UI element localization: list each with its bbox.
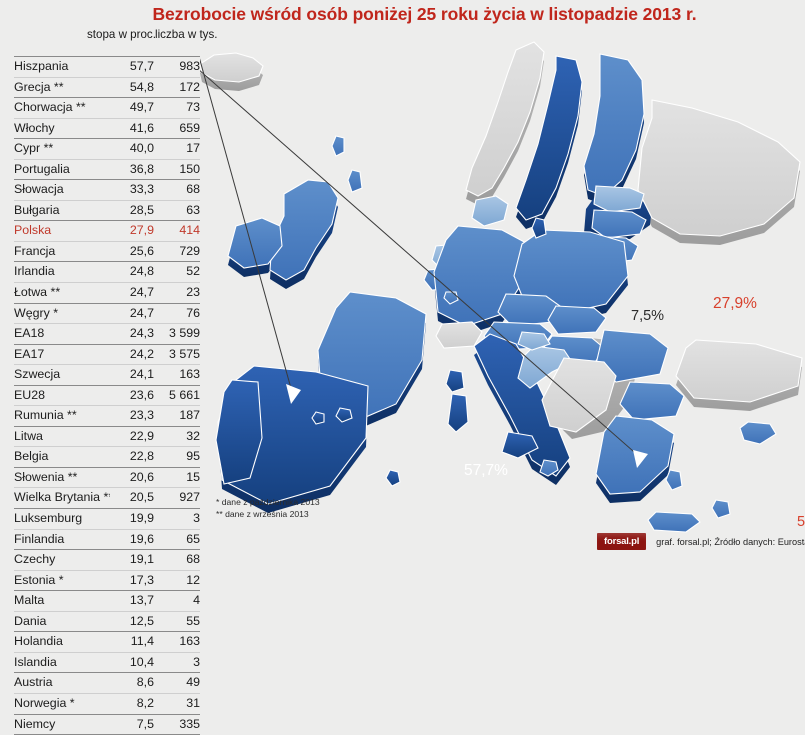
cell-count: 76 xyxy=(154,303,200,324)
cell-count: 3 575 xyxy=(154,344,200,365)
europe-map: 7,5% 27,9% 57,7% 54,8% xyxy=(200,40,805,540)
table-row: Węgry *24,776 xyxy=(14,303,200,324)
cell-name: Malta xyxy=(14,591,110,612)
cell-count: 95 xyxy=(154,447,200,468)
cell-rate: 20,5 xyxy=(110,488,154,509)
cell-count: 163 xyxy=(154,365,200,386)
table-row: Chorwacja **49,773 xyxy=(14,98,200,119)
table-row: Islandia10,43 xyxy=(14,652,200,673)
cell-rate: 24,8 xyxy=(110,262,154,283)
island-hebrides xyxy=(348,170,362,192)
cell-count: 17 xyxy=(154,139,200,160)
cell-name: Czechy xyxy=(14,550,110,571)
table-row: Słowacja33,368 xyxy=(14,180,200,201)
cell-rate: 12,5 xyxy=(110,611,154,632)
table-row: Włochy41,6659 xyxy=(14,118,200,139)
cell-count: 3 599 xyxy=(154,324,200,345)
cell-name: Bułgaria xyxy=(14,200,110,221)
cell-rate: 8,6 xyxy=(110,673,154,694)
table-row: Niemcy7,5335 xyxy=(14,714,200,735)
cell-rate: 54,8 xyxy=(110,77,154,98)
table-row: Francja25,6729 xyxy=(14,241,200,262)
column-header-rate: stopa w proc. xyxy=(87,28,161,42)
cell-count: 5 661 xyxy=(154,385,200,406)
table-row: Łotwa **24,723 xyxy=(14,283,200,304)
cell-count: 68 xyxy=(154,180,200,201)
table-header: stopa w proc. liczba w tys. xyxy=(14,28,200,42)
cell-rate: 11,4 xyxy=(110,632,154,653)
table-row: EA1824,33 599 xyxy=(14,324,200,345)
cell-rate: 20,6 xyxy=(110,467,154,488)
cell-rate: 40,0 xyxy=(110,139,154,160)
cell-rate: 25,6 xyxy=(110,241,154,262)
cell-count: 3 xyxy=(154,652,200,673)
cell-name: Luksemburg xyxy=(14,509,110,530)
map-label-poland: 27,9% xyxy=(713,295,757,313)
table-row: Polska27,9414 xyxy=(14,221,200,242)
table-row: Estonia *17,312 xyxy=(14,570,200,591)
cell-count: 63 xyxy=(154,200,200,221)
cell-count: 3 xyxy=(154,509,200,530)
table-row: Irlandia24,852 xyxy=(14,262,200,283)
table-row: Cypr **40,017 xyxy=(14,139,200,160)
cell-name: Polska xyxy=(14,221,110,242)
country-estonia xyxy=(594,186,644,212)
table-body: Hiszpania57,7983Grecja **54,8172Chorwacj… xyxy=(14,57,200,735)
cell-rate: 23,3 xyxy=(110,406,154,427)
island-corsica xyxy=(446,370,464,392)
cell-name: Węgry * xyxy=(14,303,110,324)
cell-count: 163 xyxy=(154,632,200,653)
cell-rate: 24,3 xyxy=(110,324,154,345)
table-row: Finlandia19,665 xyxy=(14,529,200,550)
cell-rate: 24,2 xyxy=(110,344,154,365)
cell-rate: 24,7 xyxy=(110,283,154,304)
cell-count: 55 xyxy=(154,611,200,632)
footnote-one: * dane z października 2013 xyxy=(216,497,320,509)
table-row: Rumunia **23,3187 xyxy=(14,406,200,427)
cell-rate: 36,8 xyxy=(110,159,154,180)
cell-name: EU28 xyxy=(14,385,110,406)
cell-count: 32 xyxy=(154,426,200,447)
island-shetland xyxy=(332,136,344,156)
island-misc-2 xyxy=(386,470,400,486)
cell-name: EA17 xyxy=(14,344,110,365)
table-row: Portugalia36,8150 xyxy=(14,159,200,180)
map-label-greece: 54,8% xyxy=(797,514,805,530)
cell-rate: 13,7 xyxy=(110,591,154,612)
cell-name: Islandia xyxy=(14,652,110,673)
cell-name: Łotwa ** xyxy=(14,283,110,304)
table-row: Litwa22,932 xyxy=(14,426,200,447)
table-row: EU2823,65 661 xyxy=(14,385,200,406)
cell-name: Estonia * xyxy=(14,570,110,591)
cell-count: 52 xyxy=(154,262,200,283)
data-table: stopa w proc. liczba w tys. Hiszpania57,… xyxy=(14,28,200,735)
page-title: Bezrobocie wśród osób poniżej 25 roku ży… xyxy=(0,4,805,25)
table-row: Luksemburg19,93 xyxy=(14,509,200,530)
cell-name: Chorwacja ** xyxy=(14,98,110,119)
cell-name: Szwecja xyxy=(14,365,110,386)
footnote-two: ** dane z września 2013 xyxy=(216,509,320,521)
cell-name: Słowacja xyxy=(14,180,110,201)
cell-name: Dania xyxy=(14,611,110,632)
cell-rate: 49,7 xyxy=(110,98,154,119)
country-bulgaria xyxy=(620,382,684,420)
cell-name: Finlandia xyxy=(14,529,110,550)
cell-rate: 24,1 xyxy=(110,365,154,386)
island-misc-4 xyxy=(712,500,730,518)
country-cyprus xyxy=(740,422,776,444)
forsal-logo[interactable]: forsal.pl xyxy=(597,533,646,550)
cell-count: 68 xyxy=(154,550,200,571)
page-title-text: Bezrobocie wśród osób poniżej 25 roku ży… xyxy=(153,4,697,25)
cell-rate: 19,9 xyxy=(110,509,154,530)
cell-count: 659 xyxy=(154,118,200,139)
cell-name: Włochy xyxy=(14,118,110,139)
cell-rate: 8,2 xyxy=(110,693,154,714)
cell-name: Cypr ** xyxy=(14,139,110,160)
country-finland xyxy=(584,54,644,196)
footnotes: * dane z października 2013 ** dane z wrz… xyxy=(216,497,320,520)
cell-count: 49 xyxy=(154,673,200,694)
map-label-germany: 7,5% xyxy=(631,308,664,324)
map-label-spain: 57,7% xyxy=(464,462,508,480)
cell-name: Norwegia * xyxy=(14,693,110,714)
cell-count: 927 xyxy=(154,488,200,509)
cell-name: Rumunia ** xyxy=(14,406,110,427)
table-row: Grecja **54,8172 xyxy=(14,77,200,98)
cell-count: 23 xyxy=(154,283,200,304)
table-row: Czechy19,168 xyxy=(14,550,200,571)
cell-count: 414 xyxy=(154,221,200,242)
table-row: Dania12,555 xyxy=(14,611,200,632)
cell-rate: 22,9 xyxy=(110,426,154,447)
table-row: Belgia22,895 xyxy=(14,447,200,468)
cell-rate: 22,8 xyxy=(110,447,154,468)
country-denmark xyxy=(472,196,508,226)
cell-rate: 57,7 xyxy=(110,57,154,78)
country-table: Hiszpania57,7983Grecja **54,8172Chorwacj… xyxy=(14,56,200,735)
table-row: Bułgaria28,563 xyxy=(14,200,200,221)
cell-name: Belgia xyxy=(14,447,110,468)
island-misc-3 xyxy=(666,470,682,490)
island-crete xyxy=(648,512,700,532)
table-row: Holandia11,4163 xyxy=(14,632,200,653)
cell-name: Niemcy xyxy=(14,714,110,735)
cell-rate: 7,5 xyxy=(110,714,154,735)
credit-bar: forsal.pl graf. forsal.pl; Źródło danych… xyxy=(597,533,805,550)
cell-rate: 19,1 xyxy=(110,550,154,571)
cell-count: 15 xyxy=(154,467,200,488)
cell-name: Austria xyxy=(14,673,110,694)
table-row: Szwecja24,1163 xyxy=(14,365,200,386)
table-row: Słowenia **20,615 xyxy=(14,467,200,488)
cell-rate: 24,7 xyxy=(110,303,154,324)
cell-name: Portugalia xyxy=(14,159,110,180)
table-row: Malta13,74 xyxy=(14,591,200,612)
table-row: Wielka Brytania **20,5927 xyxy=(14,488,200,509)
cell-rate: 41,6 xyxy=(110,118,154,139)
cell-rate: 23,6 xyxy=(110,385,154,406)
cell-rate: 10,4 xyxy=(110,652,154,673)
country-switzerland xyxy=(436,322,482,348)
cell-rate: 27,9 xyxy=(110,221,154,242)
infographic-root: Bezrobocie wśród osób poniżej 25 roku ży… xyxy=(0,0,805,589)
credit-text: graf. forsal.pl; Źródło danych: Eurostat xyxy=(656,537,805,547)
cell-count: 729 xyxy=(154,241,200,262)
cell-name: Wielka Brytania ** xyxy=(14,488,110,509)
cell-count: 73 xyxy=(154,98,200,119)
cell-count: 172 xyxy=(154,77,200,98)
cell-name: Irlandia xyxy=(14,262,110,283)
cell-rate: 33,3 xyxy=(110,180,154,201)
table-row: EA1724,23 575 xyxy=(14,344,200,365)
cell-name: Francja xyxy=(14,241,110,262)
cell-name: Słowenia ** xyxy=(14,467,110,488)
cell-name: EA18 xyxy=(14,324,110,345)
cell-count: 983 xyxy=(154,57,200,78)
island-sardinia xyxy=(448,394,468,432)
country-slovakia xyxy=(548,306,606,334)
cell-count: 150 xyxy=(154,159,200,180)
cell-name: Grecja ** xyxy=(14,77,110,98)
table-row: Hiszpania57,7983 xyxy=(14,57,200,78)
cell-count: 65 xyxy=(154,529,200,550)
cell-count: 187 xyxy=(154,406,200,427)
cell-name: Hiszpania xyxy=(14,57,110,78)
map-countries xyxy=(200,42,802,532)
cell-count: 4 xyxy=(154,591,200,612)
table-row: Norwegia *8,231 xyxy=(14,693,200,714)
cell-rate: 19,6 xyxy=(110,529,154,550)
cell-name: Holandia xyxy=(14,632,110,653)
cell-rate: 28,5 xyxy=(110,200,154,221)
cell-rate: 17,3 xyxy=(110,570,154,591)
table-row: Austria8,649 xyxy=(14,673,200,694)
cell-count: 12 xyxy=(154,570,200,591)
cell-name: Litwa xyxy=(14,426,110,447)
cell-count: 31 xyxy=(154,693,200,714)
cell-count: 335 xyxy=(154,714,200,735)
